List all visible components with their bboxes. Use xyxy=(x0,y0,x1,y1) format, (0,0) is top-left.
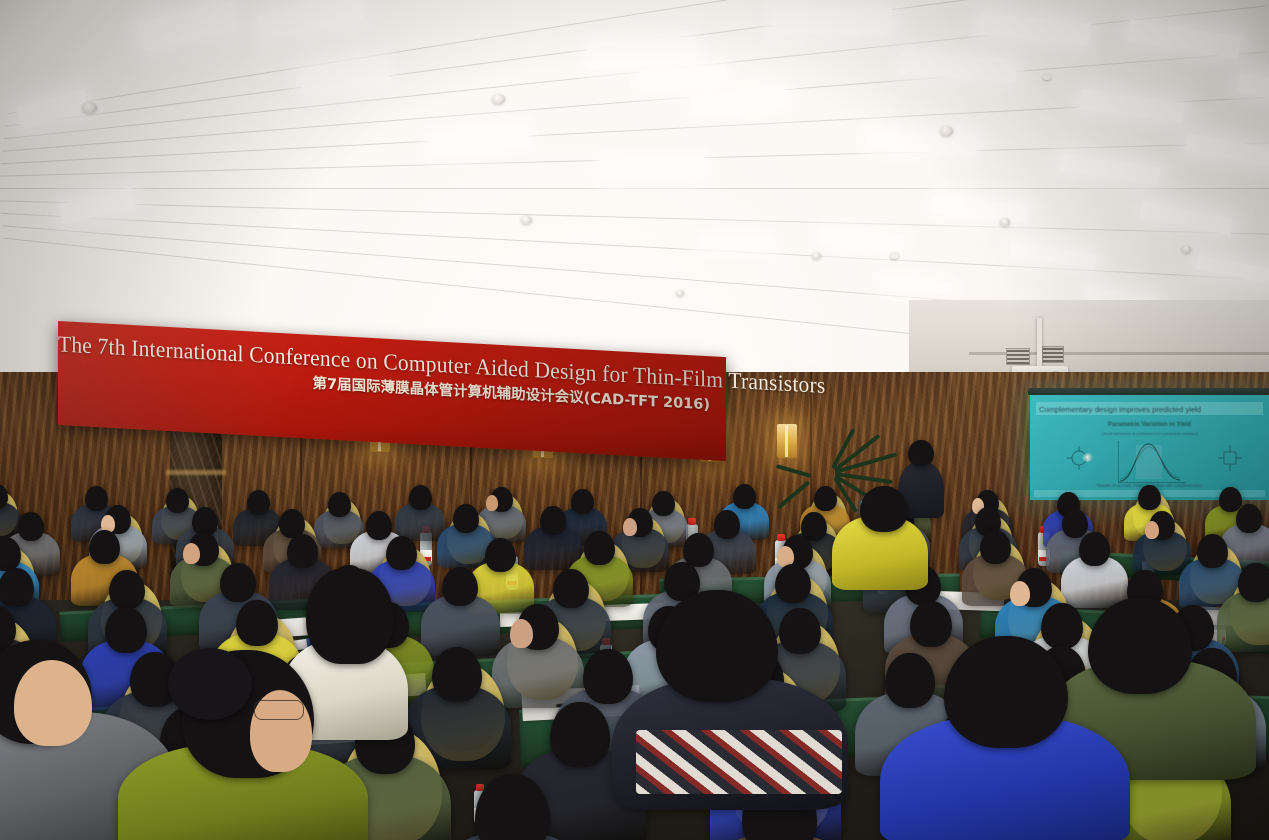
attendee-head xyxy=(453,504,479,533)
attendee-head xyxy=(1079,532,1110,566)
attendee-green-parka-head xyxy=(1088,598,1192,694)
attendee-blue-hoodie-head xyxy=(944,636,1068,748)
attendee-face xyxy=(1145,521,1159,539)
attendee-head xyxy=(885,653,935,708)
slide-title: Complementary design improves predicted … xyxy=(1036,402,1263,416)
attendee-head xyxy=(166,488,189,513)
attendee-face xyxy=(1010,581,1030,606)
attendee-olive-coat-glasses xyxy=(254,700,304,720)
attendee-head xyxy=(652,491,675,516)
ceiling-downlight xyxy=(1000,218,1010,226)
attendee-head xyxy=(814,486,837,511)
projector-mount-pole xyxy=(1037,318,1042,370)
hvac-vent-left xyxy=(1006,348,1030,365)
attendee-head xyxy=(1149,511,1175,540)
attendee-head xyxy=(1197,534,1228,568)
slide-title-bar: Complementary design improves predicted … xyxy=(1036,402,1263,415)
attendee-patterned-sweater-head xyxy=(656,590,778,702)
ceiling-downlight xyxy=(940,126,953,136)
ceiling-light-panel xyxy=(700,235,774,250)
attendee-head xyxy=(910,601,952,647)
ceiling-light-panel xyxy=(600,156,705,182)
attendee-head xyxy=(775,564,811,603)
attendee-head xyxy=(1016,568,1052,607)
attendee-head xyxy=(571,489,594,514)
attendee-head xyxy=(733,484,756,509)
attendee-head xyxy=(247,490,270,515)
attendee-olive-coat-bun xyxy=(168,648,252,720)
wall-sconce xyxy=(777,424,797,458)
ceiling-downlight xyxy=(521,216,532,224)
ceiling-downlight xyxy=(492,94,505,104)
bottle-cap xyxy=(688,518,696,525)
attendee-head xyxy=(714,510,740,539)
screen-glare xyxy=(1082,453,1093,462)
attendee-head xyxy=(220,563,256,602)
attendee-head xyxy=(109,570,145,609)
attendee-floral-top-head xyxy=(306,568,394,664)
attendee-head xyxy=(366,511,392,540)
attendee-head xyxy=(1062,509,1088,538)
attendee-head xyxy=(409,485,432,510)
attendee-head xyxy=(1236,504,1262,533)
banner-title-chinese: 第7届国际薄膜晶体管计算机辅助设计会议(CAD-TFT 2016) xyxy=(58,363,710,414)
attendee-face xyxy=(183,543,200,564)
attendee-head xyxy=(236,600,278,646)
attendee-patterned-hem xyxy=(636,730,842,794)
attendee-head xyxy=(105,607,147,653)
attendee-grey-jacket-face xyxy=(14,660,92,746)
attendee-head xyxy=(432,647,482,702)
slide-circuit-diagram-right xyxy=(1217,443,1243,473)
attendee-head xyxy=(517,604,559,650)
attendee-head xyxy=(85,486,108,511)
attendee-head xyxy=(490,487,513,512)
column-light-strip xyxy=(166,470,226,475)
attendee-head xyxy=(583,649,633,704)
attendee-head xyxy=(188,532,219,566)
attendee-head xyxy=(980,530,1011,564)
attendee-head xyxy=(627,508,653,537)
ceiling-rib xyxy=(0,188,1269,189)
attendee-head xyxy=(584,531,615,565)
attendee-face xyxy=(486,495,498,511)
speaker-standing-head xyxy=(908,440,934,466)
hvac-vent-right xyxy=(1042,346,1064,363)
attendee-head xyxy=(0,568,34,607)
attendee-head xyxy=(683,533,714,567)
slide-subtitle: Parametric Variation in Yield xyxy=(1030,421,1269,428)
projection-screen-case xyxy=(1028,388,1269,395)
bottle-cap xyxy=(777,534,785,541)
attendee-face xyxy=(510,619,533,648)
slide-chart xyxy=(1108,439,1190,487)
smoke-detector-icon xyxy=(890,252,899,259)
ceiling-light-panel xyxy=(772,8,892,34)
ceiling-downlight xyxy=(82,102,97,113)
conference-hall-photo: The 7th International Conference on Comp… xyxy=(0,0,1269,840)
attendee-head xyxy=(550,702,610,767)
attendee-head xyxy=(1041,603,1083,649)
attendee-face xyxy=(623,518,637,536)
attendee-head xyxy=(1138,485,1161,510)
ceiling-downlight xyxy=(676,290,684,296)
slide-sigmoid-curve xyxy=(1108,439,1190,487)
attendee-yellow-jacket-head xyxy=(860,486,908,532)
attendee-head xyxy=(779,608,821,654)
attendee-head xyxy=(18,512,44,541)
attendee-head xyxy=(1238,563,1269,602)
attendee-head xyxy=(540,506,566,535)
attendee-head xyxy=(89,530,120,564)
attendee-head xyxy=(553,569,589,608)
attendee-head xyxy=(328,492,351,517)
attendee-head xyxy=(386,536,417,570)
attendee-head xyxy=(287,534,318,568)
attendee-head xyxy=(485,538,516,572)
attendee-head xyxy=(442,567,478,606)
ceiling-light-panel xyxy=(690,88,787,113)
ceiling-downlight xyxy=(1182,246,1191,253)
smoke-detector-icon xyxy=(1043,74,1051,80)
ceiling-downlight xyxy=(812,252,821,259)
slide-caption: Circuit behaviour is predicted from para… xyxy=(1030,431,1269,436)
